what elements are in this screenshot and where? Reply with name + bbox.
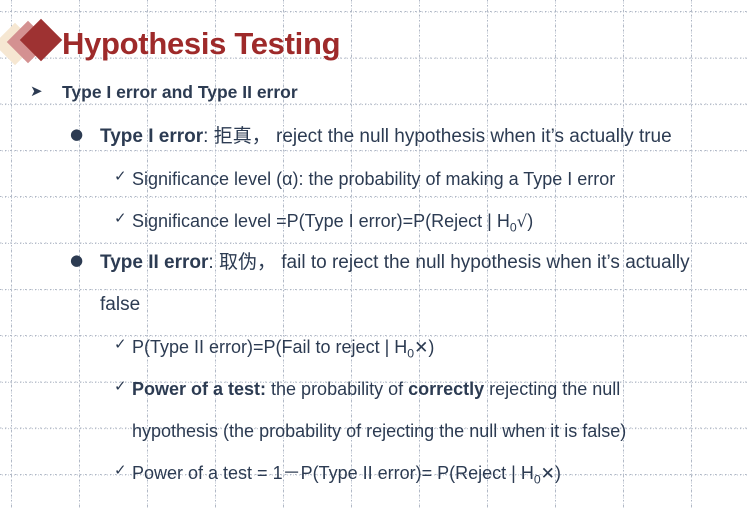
power-of-test-emphasis: correctly: [408, 379, 484, 399]
power-of-test-label: Power of a test:: [132, 379, 266, 399]
formula-suffix: ): [428, 337, 434, 357]
cross-mark-symbol: ✕: [414, 338, 428, 358]
type-2-separator: :: [208, 252, 219, 273]
power-of-test-formula-text: Power of a test = 1－P(Type II error)= P(…: [132, 460, 748, 489]
type-2-chinese: 取伪，: [219, 251, 276, 273]
check-mark-symbol: √: [517, 212, 528, 231]
type-1-chinese: 拒真，: [214, 125, 271, 147]
bullet-significance-level-formula[interactable]: ✓ Significance level =P(Type I error)=P(…: [0, 208, 748, 250]
bullet-type-1-error[interactable]: ● Type I error: 拒真， reject the null hypo…: [0, 124, 748, 166]
bullet-level1-type-errors[interactable]: ➤ Type I error and Type II error: [0, 82, 748, 124]
cross-mark-symbol: ✕: [541, 464, 555, 484]
page-title: Hypothesis Testing: [62, 26, 340, 62]
check-bullet-icon: ✓: [114, 208, 132, 230]
power-of-test-mid: the probability of: [266, 379, 408, 399]
significance-level-formula-text: Significance level =P(Type I error)=P(Re…: [132, 208, 748, 237]
arrow-bullet-icon: ➤: [30, 82, 62, 101]
bullet-type-2-error[interactable]: ● Type II error: 取伪， fail to reject the …: [0, 250, 748, 292]
power-of-test-wrap: hypothesis (the probability of rejecting…: [132, 418, 748, 444]
type-2-description-wrap: false: [100, 292, 748, 318]
type-1-description: reject the null hypothesis when it’s act…: [271, 126, 672, 147]
bullet-type-2-error-wrap: false: [0, 292, 748, 334]
bullet-significance-level-definition[interactable]: ✓ Significance level (α): the probabilit…: [0, 166, 748, 208]
formula-suffix: ): [527, 211, 533, 231]
power-of-test-text: Power of a test: the probability of corr…: [132, 376, 748, 402]
power-of-test-rest: rejecting the null: [484, 379, 620, 399]
slide-body: ➤ Type I error and Type II error ● Type …: [0, 82, 748, 502]
round-bullet-icon: ●: [70, 250, 100, 270]
significance-level-text: Significance level (α): the probability …: [132, 166, 748, 192]
h-null-subscript: 0: [510, 221, 517, 235]
check-bullet-icon: ✓: [114, 166, 132, 188]
formula-suffix: ): [555, 463, 561, 483]
formula-prefix: Significance level =P(Type I error)=P(Re…: [132, 211, 510, 231]
bullet-power-of-test-definition[interactable]: ✓ Power of a test: the probability of co…: [0, 376, 748, 418]
bullet-type-2-probability-formula[interactable]: ✓ P(Type II error)=P(Fail to reject | H0…: [0, 334, 748, 376]
check-bullet-icon: ✓: [114, 460, 132, 482]
bullet-level1-text: Type I error and Type II error: [62, 82, 748, 104]
formula-prefix: Power of a test = 1－P(Type II error)= P(…: [132, 463, 534, 483]
h-null-subscript: 0: [534, 473, 541, 487]
round-bullet-icon: ●: [70, 124, 100, 144]
check-bullet-icon: ✓: [114, 334, 132, 356]
type-1-separator: :: [203, 126, 214, 147]
type-2-error-label: Type II error: [100, 252, 208, 273]
bullet-type-2-error-text: Type II error: 取伪， fail to reject the nu…: [100, 250, 748, 276]
bullet-power-of-test-formula[interactable]: ✓ Power of a test = 1－P(Type II error)= …: [0, 460, 748, 502]
slide-title-row[interactable]: Hypothesis Testing: [0, 18, 340, 70]
bullet-power-of-test-wrap: hypothesis (the probability of rejecting…: [0, 418, 748, 460]
formula-prefix: P(Type II error)=P(Fail to reject | H: [132, 337, 407, 357]
type-2-probability-formula-text: P(Type II error)=P(Fail to reject | H0✕): [132, 334, 748, 363]
check-bullet-icon: ✓: [114, 376, 132, 398]
type-1-error-label: Type I error: [100, 126, 203, 147]
type-2-description: fail to reject the null hypothesis when …: [276, 252, 690, 273]
bullet-type-1-error-text: Type I error: 拒真， reject the null hypoth…: [100, 124, 748, 150]
diamond-decoration-icon: [0, 20, 62, 68]
